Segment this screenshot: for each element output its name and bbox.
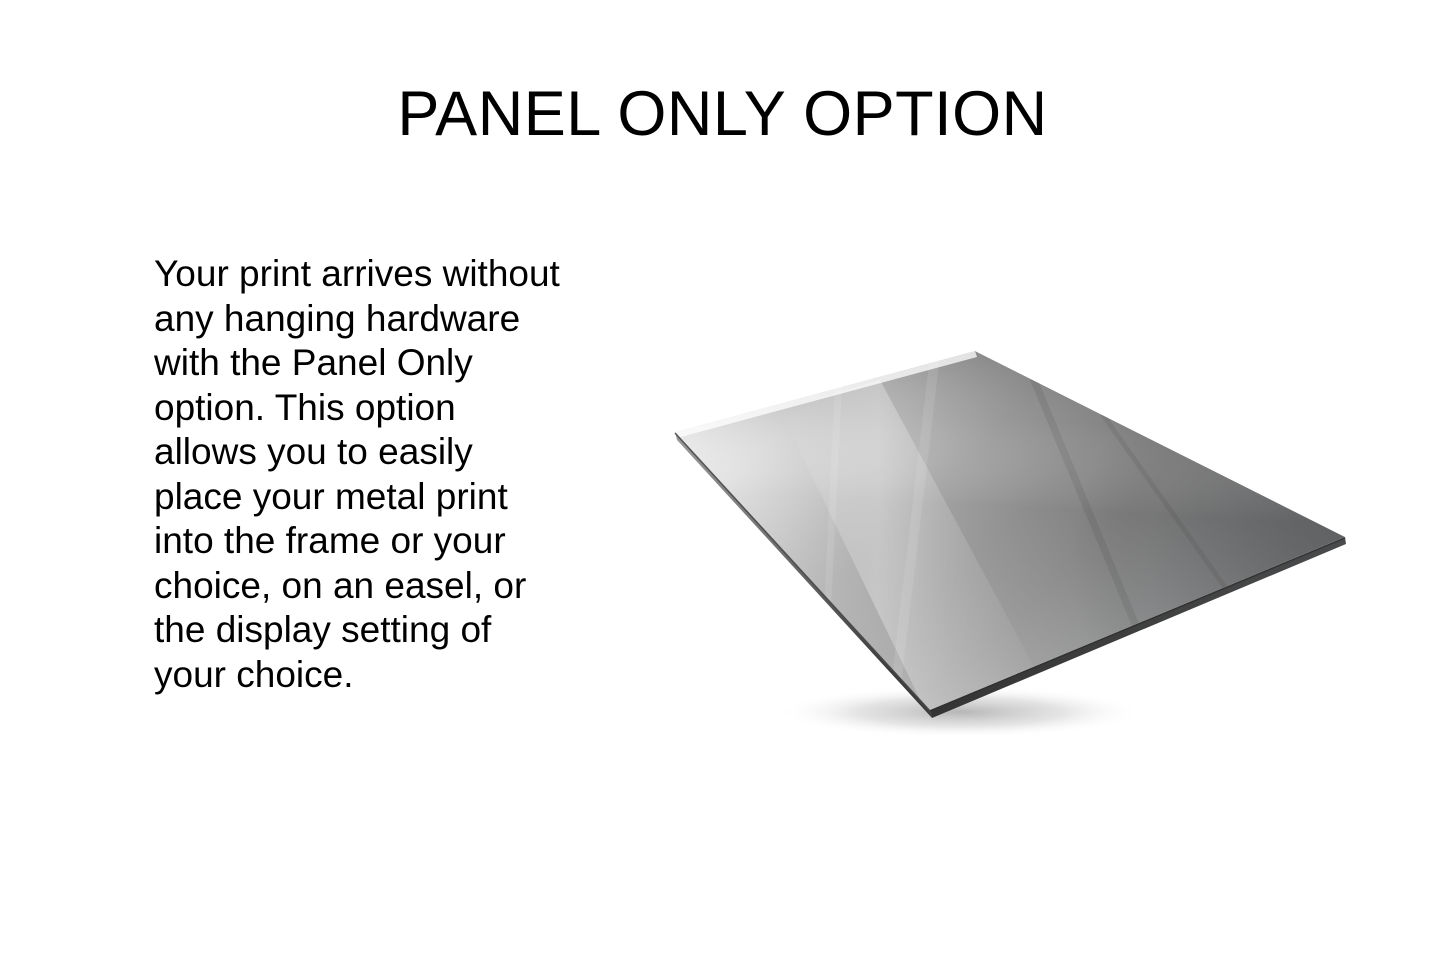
body-line: Your print arrives without (154, 252, 584, 297)
body-paragraph: Your print arrives without any hanging h… (154, 252, 584, 697)
body-line: the display setting of (154, 608, 584, 653)
body-line: with the Panel Only (154, 341, 584, 386)
body-line: place your metal print (154, 475, 584, 520)
body-line: choice, on an easel, or (154, 564, 584, 609)
body-line: your choice. (154, 653, 584, 698)
panel-face-texture (1010, 340, 1390, 740)
metal-panel-image (630, 320, 1390, 750)
slide-canvas: PANEL ONLY OPTION Your print arrives wit… (0, 0, 1445, 963)
body-line: option. This option (154, 386, 584, 431)
page-title: PANEL ONLY OPTION (0, 78, 1445, 150)
panel-top-face (675, 340, 1390, 740)
body-line: into the frame or your (154, 519, 584, 564)
body-line: any hanging hardware (154, 297, 584, 342)
metal-panel-illustration (630, 320, 1390, 750)
body-line: allows you to easily (154, 430, 584, 475)
